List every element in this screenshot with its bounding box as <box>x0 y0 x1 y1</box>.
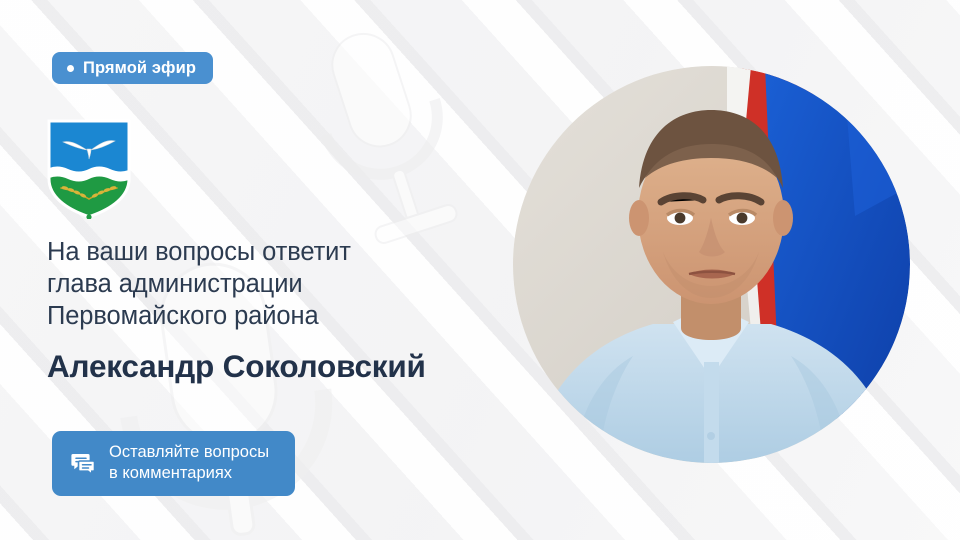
portrait-photo <box>513 66 910 463</box>
live-badge[interactable]: Прямой эфир <box>52 52 213 84</box>
leave-questions-label: Оставляйте вопросы в комментариях <box>109 442 269 484</box>
cta-line-2: в комментариях <box>109 463 269 484</box>
coat-of-arms <box>47 119 131 219</box>
person-name: Александр Соколовский <box>47 347 567 385</box>
page-title: На ваши вопросы ответит глава администра… <box>47 236 487 332</box>
leave-questions-button[interactable]: Оставляйте вопросы в комментариях <box>52 431 295 496</box>
live-badge-label: Прямой эфир <box>83 60 196 77</box>
comment-bubbles-icon <box>71 451 96 476</box>
headline-line-2: глава администрации <box>47 268 487 300</box>
headline-line-3: Первомайского района <box>47 300 487 332</box>
cta-line-1: Оставляйте вопросы <box>109 442 269 463</box>
live-dot-icon <box>67 65 74 72</box>
headline-line-1: На ваши вопросы ответит <box>47 236 487 268</box>
poster-canvas: Прямой эфир <box>0 0 960 540</box>
